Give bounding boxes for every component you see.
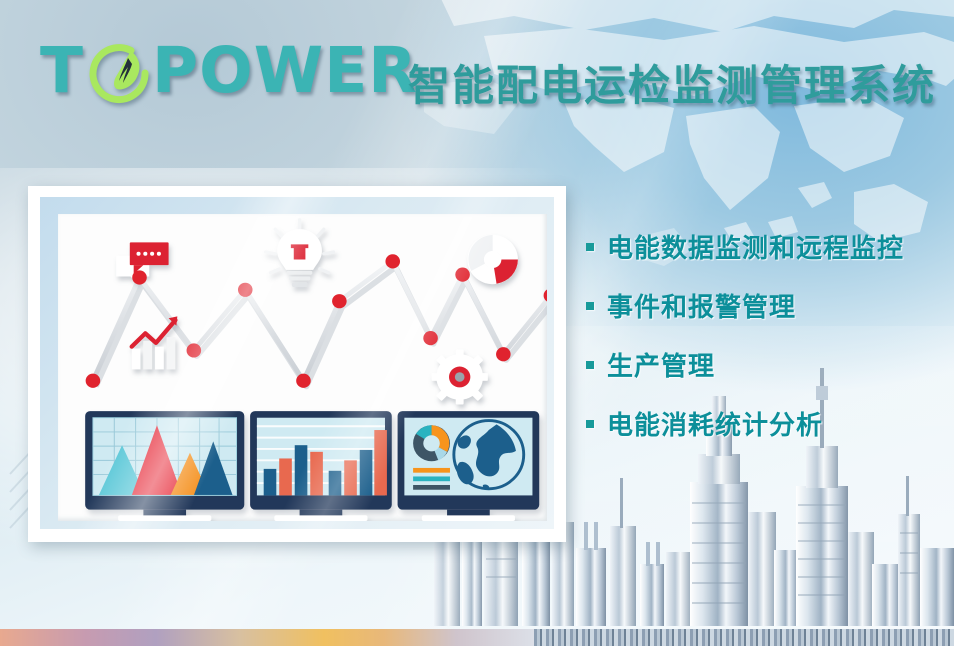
feature-label: 电能消耗统计分析: [607, 405, 823, 442]
feature-list: 电能数据监测和远程监控 事件和报警管理 生产管理 电能消耗统计分析: [586, 228, 904, 464]
illustration-panel: [28, 186, 566, 542]
list-item: 电能消耗统计分析: [586, 405, 904, 442]
filmstrip-right: [534, 629, 954, 646]
leaf-bolt-emblem-icon: [87, 41, 151, 105]
bullet-square-icon: [586, 361, 594, 369]
bullet-square-icon: [586, 302, 594, 310]
monitor-bar-chart: [250, 411, 392, 521]
filmstrip-left: [0, 629, 600, 646]
gear-icon: [432, 349, 488, 404]
bullet-square-icon: [586, 243, 594, 251]
logo-text-prefix: T: [40, 39, 84, 102]
lightbulb-icon: [266, 220, 334, 287]
page-title: 智能配电运检监测管理系统: [408, 52, 936, 113]
feature-label: 电能数据监测和远程监控: [607, 228, 904, 265]
list-item: 事件和报警管理: [586, 287, 904, 324]
panel-inner-frame: [40, 197, 554, 529]
logo-text-suffix: POWER: [152, 39, 418, 102]
brand-logo: T POWER: [40, 38, 418, 102]
feature-label: 生产管理: [607, 346, 715, 383]
list-item: 电能数据监测和远程监控: [586, 228, 904, 265]
bar-chart-trend-icon: [132, 316, 178, 369]
feature-label: 事件和报警管理: [607, 287, 796, 324]
donut-legend: [413, 468, 450, 490]
donut-chart: [413, 425, 450, 461]
monitor-donut-globe: [398, 411, 540, 521]
bottom-filmstrip: [0, 629, 954, 646]
list-item: 生产管理: [586, 346, 904, 383]
monitor-area-chart: [85, 411, 244, 521]
bullet-square-icon: [586, 420, 594, 428]
illustration-canvas: [58, 214, 547, 521]
header: T POWER 智能配电运检监测管理系统: [0, 0, 954, 140]
poster-stage: T POWER 智能配电运检监测管理系统 电能数据监测和远程监控 事件和报警管理…: [0, 0, 954, 646]
pie-chart-icon: [467, 235, 517, 284]
